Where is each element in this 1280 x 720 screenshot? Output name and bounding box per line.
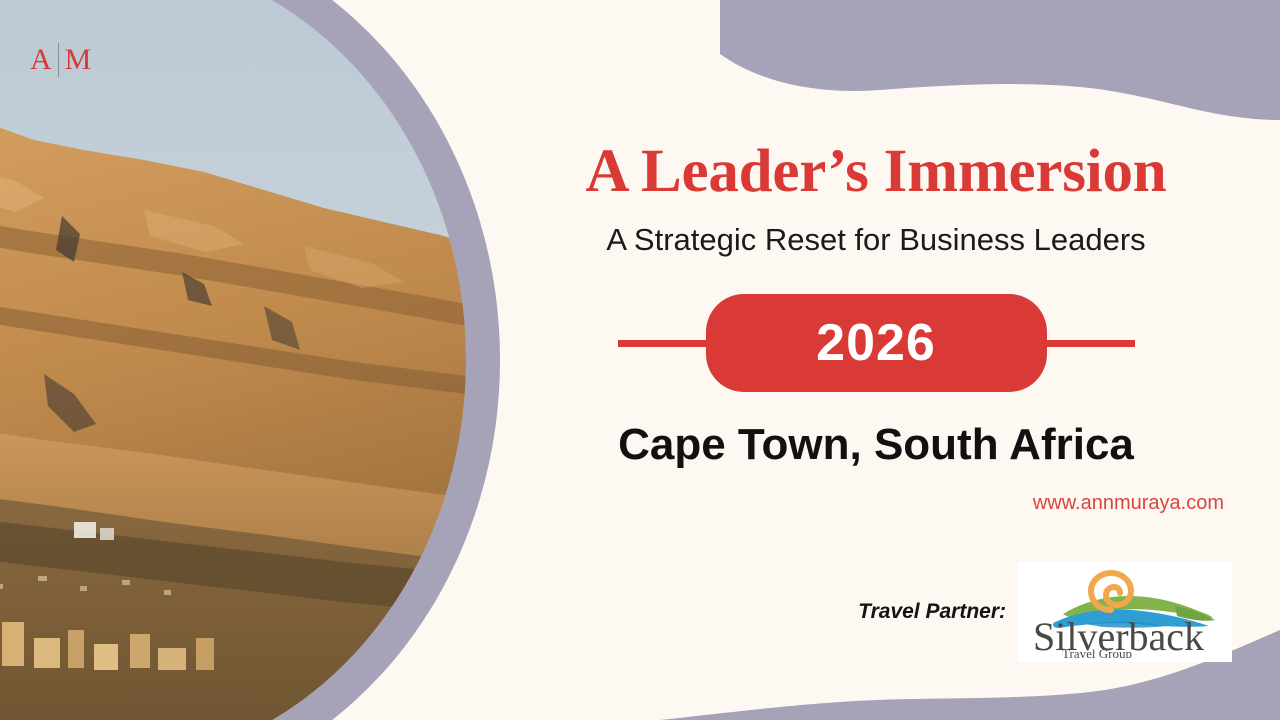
silverback-tagline: Travel Group [1062,646,1132,658]
event-title: A Leader’s Immersion [585,140,1166,204]
poster-canvas: A M A Leader’s Immersion A Strategic Res… [0,0,1280,720]
brand-initial-right: M [65,45,92,75]
brand-logo[interactable]: A M [30,38,91,82]
hero-photo [0,0,500,720]
year-banner: 2026 [520,294,1232,392]
website-url[interactable]: www.annmuraya.com [1033,492,1232,515]
year-rule-left [618,340,706,347]
year-badge: 2026 [706,294,1047,392]
brand-initial-left: A [30,45,52,75]
travel-partner-block: Travel Partner: Silverback Travel Group [858,562,1232,662]
event-location: Cape Town, South Africa [618,420,1134,470]
silverback-travel-group-logo-icon: Silverback Travel Group [1025,566,1225,658]
event-subtitle: A Strategic Reset for Business Leaders [606,222,1145,258]
travel-partner-label: Travel Partner: [858,600,1006,624]
year-rule-right [1047,340,1135,347]
brand-divider-icon [58,43,59,77]
silverback-logo[interactable]: Silverback Travel Group [1018,562,1232,662]
